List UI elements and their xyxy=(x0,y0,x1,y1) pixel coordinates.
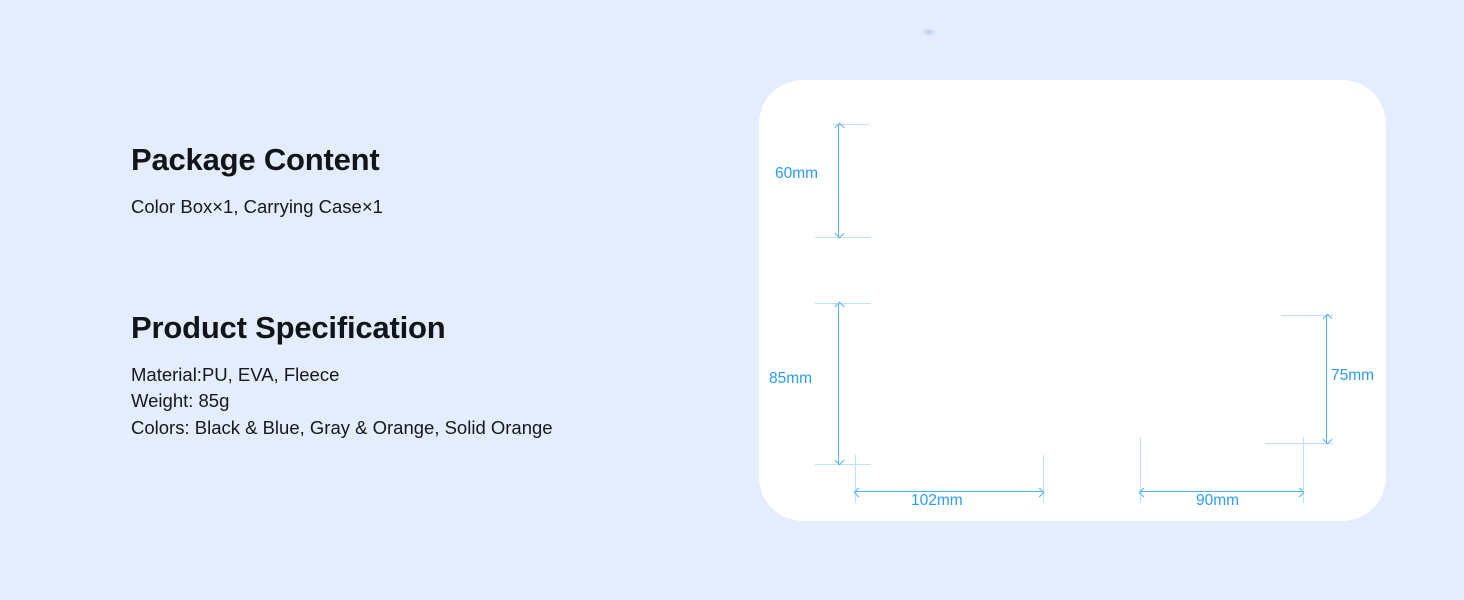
dimension-line-75mm xyxy=(1326,315,1327,443)
spec-line-weight: Weight: 85g xyxy=(131,388,553,414)
background-speck xyxy=(922,28,936,36)
dimension-label-90mm: 90mm xyxy=(1196,492,1239,510)
package-content-heading: Package Content xyxy=(131,143,383,177)
dimension-line-60mm xyxy=(838,124,839,237)
product-specification-body: Material:PU, EVA, Fleece Weight: 85g Col… xyxy=(131,345,553,441)
ext-line-102mm-right xyxy=(1043,455,1044,503)
ext-line-60mm-bottom xyxy=(815,237,871,238)
product-specification-section: Product Specification Material:PU, EVA, … xyxy=(131,311,553,441)
ext-line-85mm-top xyxy=(815,303,871,304)
spec-line-colors: Colors: Black & Blue, Gray & Orange, Sol… xyxy=(131,415,553,441)
spec-line-material: Material:PU, EVA, Fleece xyxy=(131,362,553,388)
dimension-label-85mm: 85mm xyxy=(769,370,812,388)
ext-line-75mm-bottom xyxy=(1265,443,1333,444)
specification-text-column: Package Content Color Box×1, Carrying Ca… xyxy=(131,0,711,600)
product-specification-heading: Product Specification xyxy=(131,311,553,345)
package-content-body: Color Box×1, Carrying Case×1 xyxy=(131,177,383,220)
dimension-label-60mm: 60mm xyxy=(775,165,818,183)
ext-line-102mm-left xyxy=(855,455,856,503)
dimension-label-102mm: 102mm xyxy=(911,492,963,510)
product-photo-card: ENJOYABLE BACK TO ENJOYABLE BACK T TELES… xyxy=(759,80,1386,521)
package-content-section: Package Content Color Box×1, Carrying Ca… xyxy=(131,143,383,220)
dimension-label-75mm: 75mm xyxy=(1331,367,1374,385)
package-content-line-1: Color Box×1, Carrying Case×1 xyxy=(131,194,383,220)
dimension-line-85mm xyxy=(838,303,839,464)
ext-line-85mm-bottom xyxy=(815,464,871,465)
